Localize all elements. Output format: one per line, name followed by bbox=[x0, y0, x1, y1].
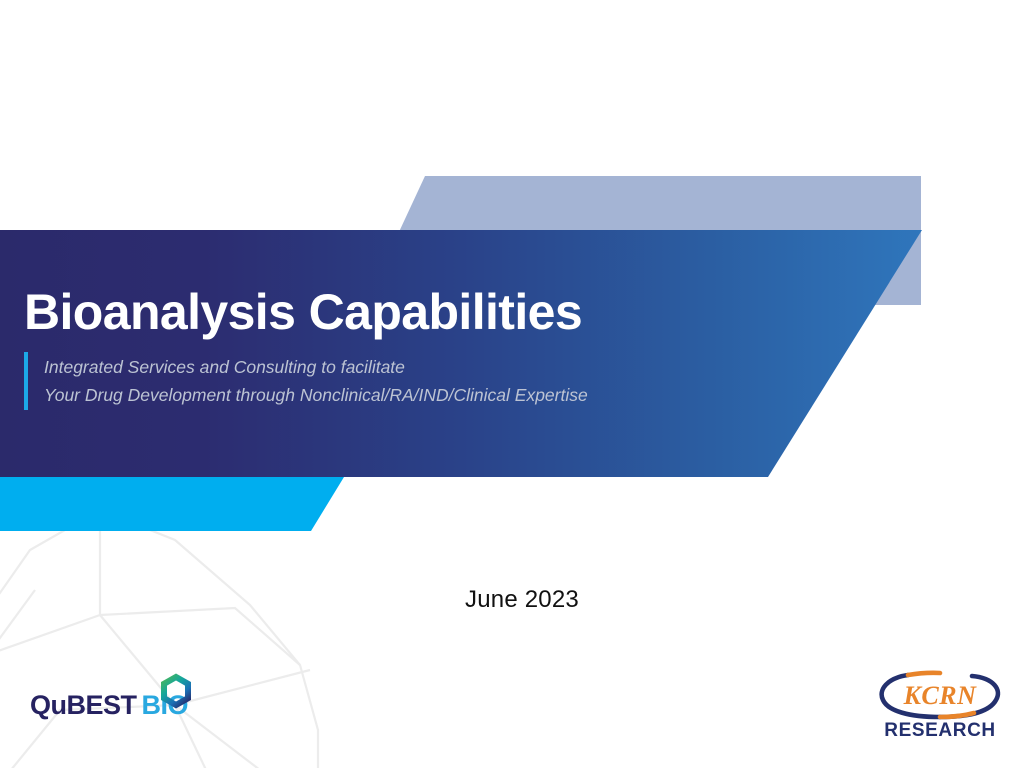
hexagon-icon bbox=[158, 672, 194, 710]
kcrn-research-logo: KCRN RESEARCH bbox=[876, 668, 1004, 740]
subtitle-line-2: Your Drug Development through Nonclinica… bbox=[44, 381, 588, 409]
cyan-band-shape bbox=[0, 477, 344, 531]
kcrn-wordmark: KCRN bbox=[903, 681, 978, 710]
subtitle-accent-bar bbox=[24, 352, 28, 410]
qubest-word-dark: QuBEST bbox=[30, 690, 137, 720]
slide-date: June 2023 bbox=[0, 586, 1024, 614]
subtitle-block: Integrated Services and Consulting to fa… bbox=[24, 352, 824, 410]
banner-text-block: Bioanalysis Capabilities Integrated Serv… bbox=[24, 284, 824, 410]
page-title: Bioanalysis Capabilities bbox=[24, 284, 824, 340]
slide-canvas: Bioanalysis Capabilities Integrated Serv… bbox=[0, 0, 1024, 768]
subtitle-line-1: Integrated Services and Consulting to fa… bbox=[44, 353, 588, 381]
subtitle-lines: Integrated Services and Consulting to fa… bbox=[44, 352, 588, 410]
slide-date-text: June 2023 bbox=[445, 586, 579, 613]
hexagon-watermark-icon bbox=[0, 520, 340, 768]
qubest-bio-logo: QuBESTBIO bbox=[30, 672, 210, 727]
research-wordmark: RESEARCH bbox=[884, 720, 995, 740]
